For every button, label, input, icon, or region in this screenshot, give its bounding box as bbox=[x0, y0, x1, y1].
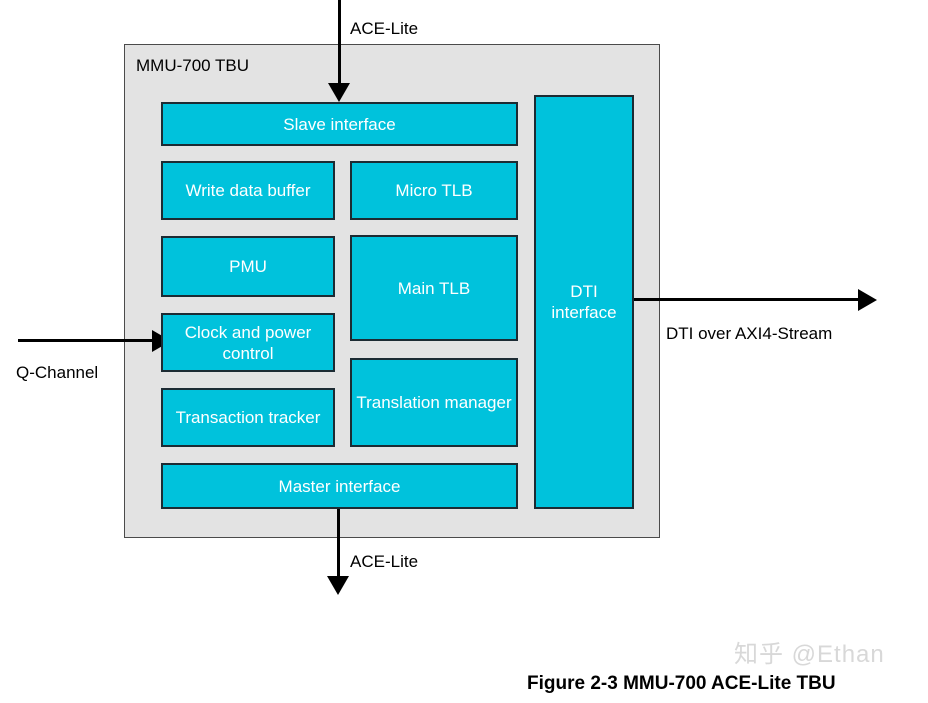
block-clock-and-power-control[interactable]: Clock and power control bbox=[161, 313, 335, 372]
block-micro-tlb[interactable]: Micro TLB bbox=[350, 161, 518, 220]
block-slave-interface[interactable]: Slave interface bbox=[161, 102, 518, 146]
q-channel-arrow-shaft bbox=[18, 339, 157, 342]
block-main-tlb-label: Main TLB bbox=[398, 278, 470, 299]
block-slave-interface-label: Slave interface bbox=[283, 114, 395, 135]
block-main-tlb[interactable]: Main TLB bbox=[350, 235, 518, 341]
block-write-data-buffer[interactable]: Write data buffer bbox=[161, 161, 335, 220]
tbu-container-title: MMU-700 TBU bbox=[136, 55, 249, 77]
block-write-data-buffer-label: Write data buffer bbox=[185, 180, 310, 201]
block-master-interface[interactable]: Master interface bbox=[161, 463, 518, 509]
dti-over-axi4-stream-label: DTI over AXI4-Stream bbox=[666, 323, 832, 344]
block-master-interface-label: Master interface bbox=[279, 476, 401, 497]
block-clock-and-power-control-label: Clock and power control bbox=[167, 322, 329, 364]
ace-lite-bottom-arrow-shaft bbox=[337, 509, 340, 579]
block-pmu[interactable]: PMU bbox=[161, 236, 335, 297]
dti-arrow-head bbox=[858, 289, 877, 311]
q-channel-label: Q-Channel bbox=[16, 362, 98, 383]
ace-lite-bottom-arrow-head bbox=[327, 576, 349, 595]
ace-lite-top-label: ACE-Lite bbox=[350, 18, 418, 39]
ace-lite-top-arrow-shaft bbox=[338, 0, 341, 86]
figure-canvas: MMU-700 TBU ACE-Lite Q-Channel DTI over … bbox=[0, 0, 928, 703]
dti-arrow-shaft bbox=[634, 298, 867, 301]
block-pmu-label: PMU bbox=[229, 256, 267, 277]
block-transaction-tracker[interactable]: Transaction tracker bbox=[161, 388, 335, 447]
ace-lite-bottom-label: ACE-Lite bbox=[350, 551, 418, 572]
block-dti-interface[interactable]: DTI interface bbox=[534, 95, 634, 509]
block-micro-tlb-label: Micro TLB bbox=[395, 180, 472, 201]
figure-caption: Figure 2-3 MMU-700 ACE-Lite TBU bbox=[527, 673, 836, 695]
watermark: 知乎 @Ethan bbox=[734, 634, 885, 669]
block-translation-manager[interactable]: Translation manager bbox=[350, 358, 518, 447]
block-translation-manager-label: Translation manager bbox=[356, 392, 511, 413]
ace-lite-top-arrow-head bbox=[328, 83, 350, 102]
block-transaction-tracker-label: Transaction tracker bbox=[176, 407, 321, 428]
block-dti-interface-label: DTI interface bbox=[540, 281, 628, 323]
